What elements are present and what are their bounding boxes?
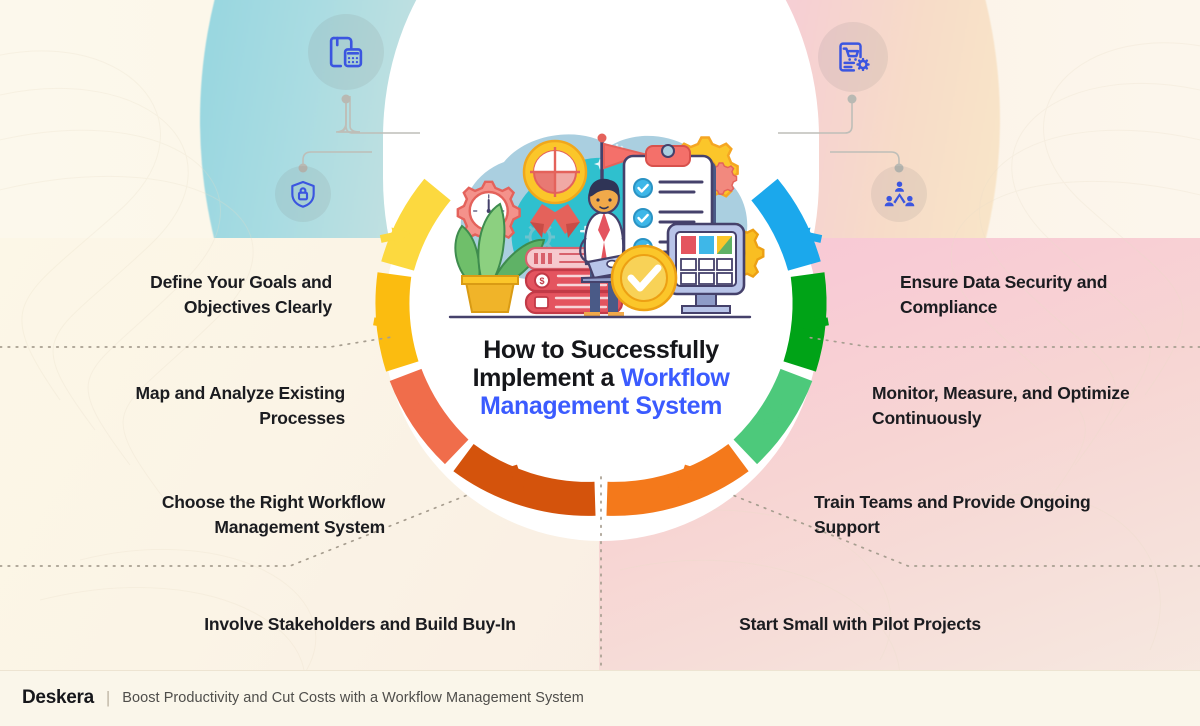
- workflow-illustration: $: [432, 112, 768, 324]
- infographic-canvas: $: [0, 0, 1200, 726]
- title-line-1: How to Successfully: [483, 336, 719, 364]
- step-label-data-security[interactable]: Ensure Data Security and Compliance: [900, 270, 1170, 321]
- title-line-2-accent: Workflow: [621, 364, 730, 392]
- page-title: How to Successfully Implement a Workflow…: [425, 336, 777, 420]
- footer-tagline: Boost Productivity and Cut Costs with a …: [122, 690, 584, 706]
- brand-logo: Deskera: [22, 687, 94, 709]
- illustration-monitor: [668, 224, 744, 313]
- step-label-pilot-projects[interactable]: Start Small with Pilot Projects: [610, 612, 1110, 637]
- step-label-train-teams[interactable]: Train Teams and Provide Ongoing Support: [814, 490, 1144, 541]
- step-label-involve-stakeholders[interactable]: Involve Stakeholders and Build Buy-In: [110, 612, 610, 637]
- title-line-3-accent: Management System: [480, 392, 722, 420]
- illustration-check-badge: [612, 246, 676, 310]
- step-label-monitor-optimize[interactable]: Monitor, Measure, and Optimize Continuou…: [872, 381, 1182, 432]
- svg-text:$: $: [539, 276, 544, 286]
- footer-separator: |: [106, 688, 110, 708]
- step-label-define-goals[interactable]: Define Your Goals and Objectives Clearly: [60, 270, 332, 321]
- title-line-2-plain: Implement a: [473, 364, 621, 392]
- step-label-map-processes[interactable]: Map and Analyze Existing Processes: [60, 381, 345, 432]
- step-label-choose-system[interactable]: Choose the Right Workflow Management Sys…: [60, 490, 385, 541]
- footer: Deskera | Boost Productivity and Cut Cos…: [0, 670, 1200, 726]
